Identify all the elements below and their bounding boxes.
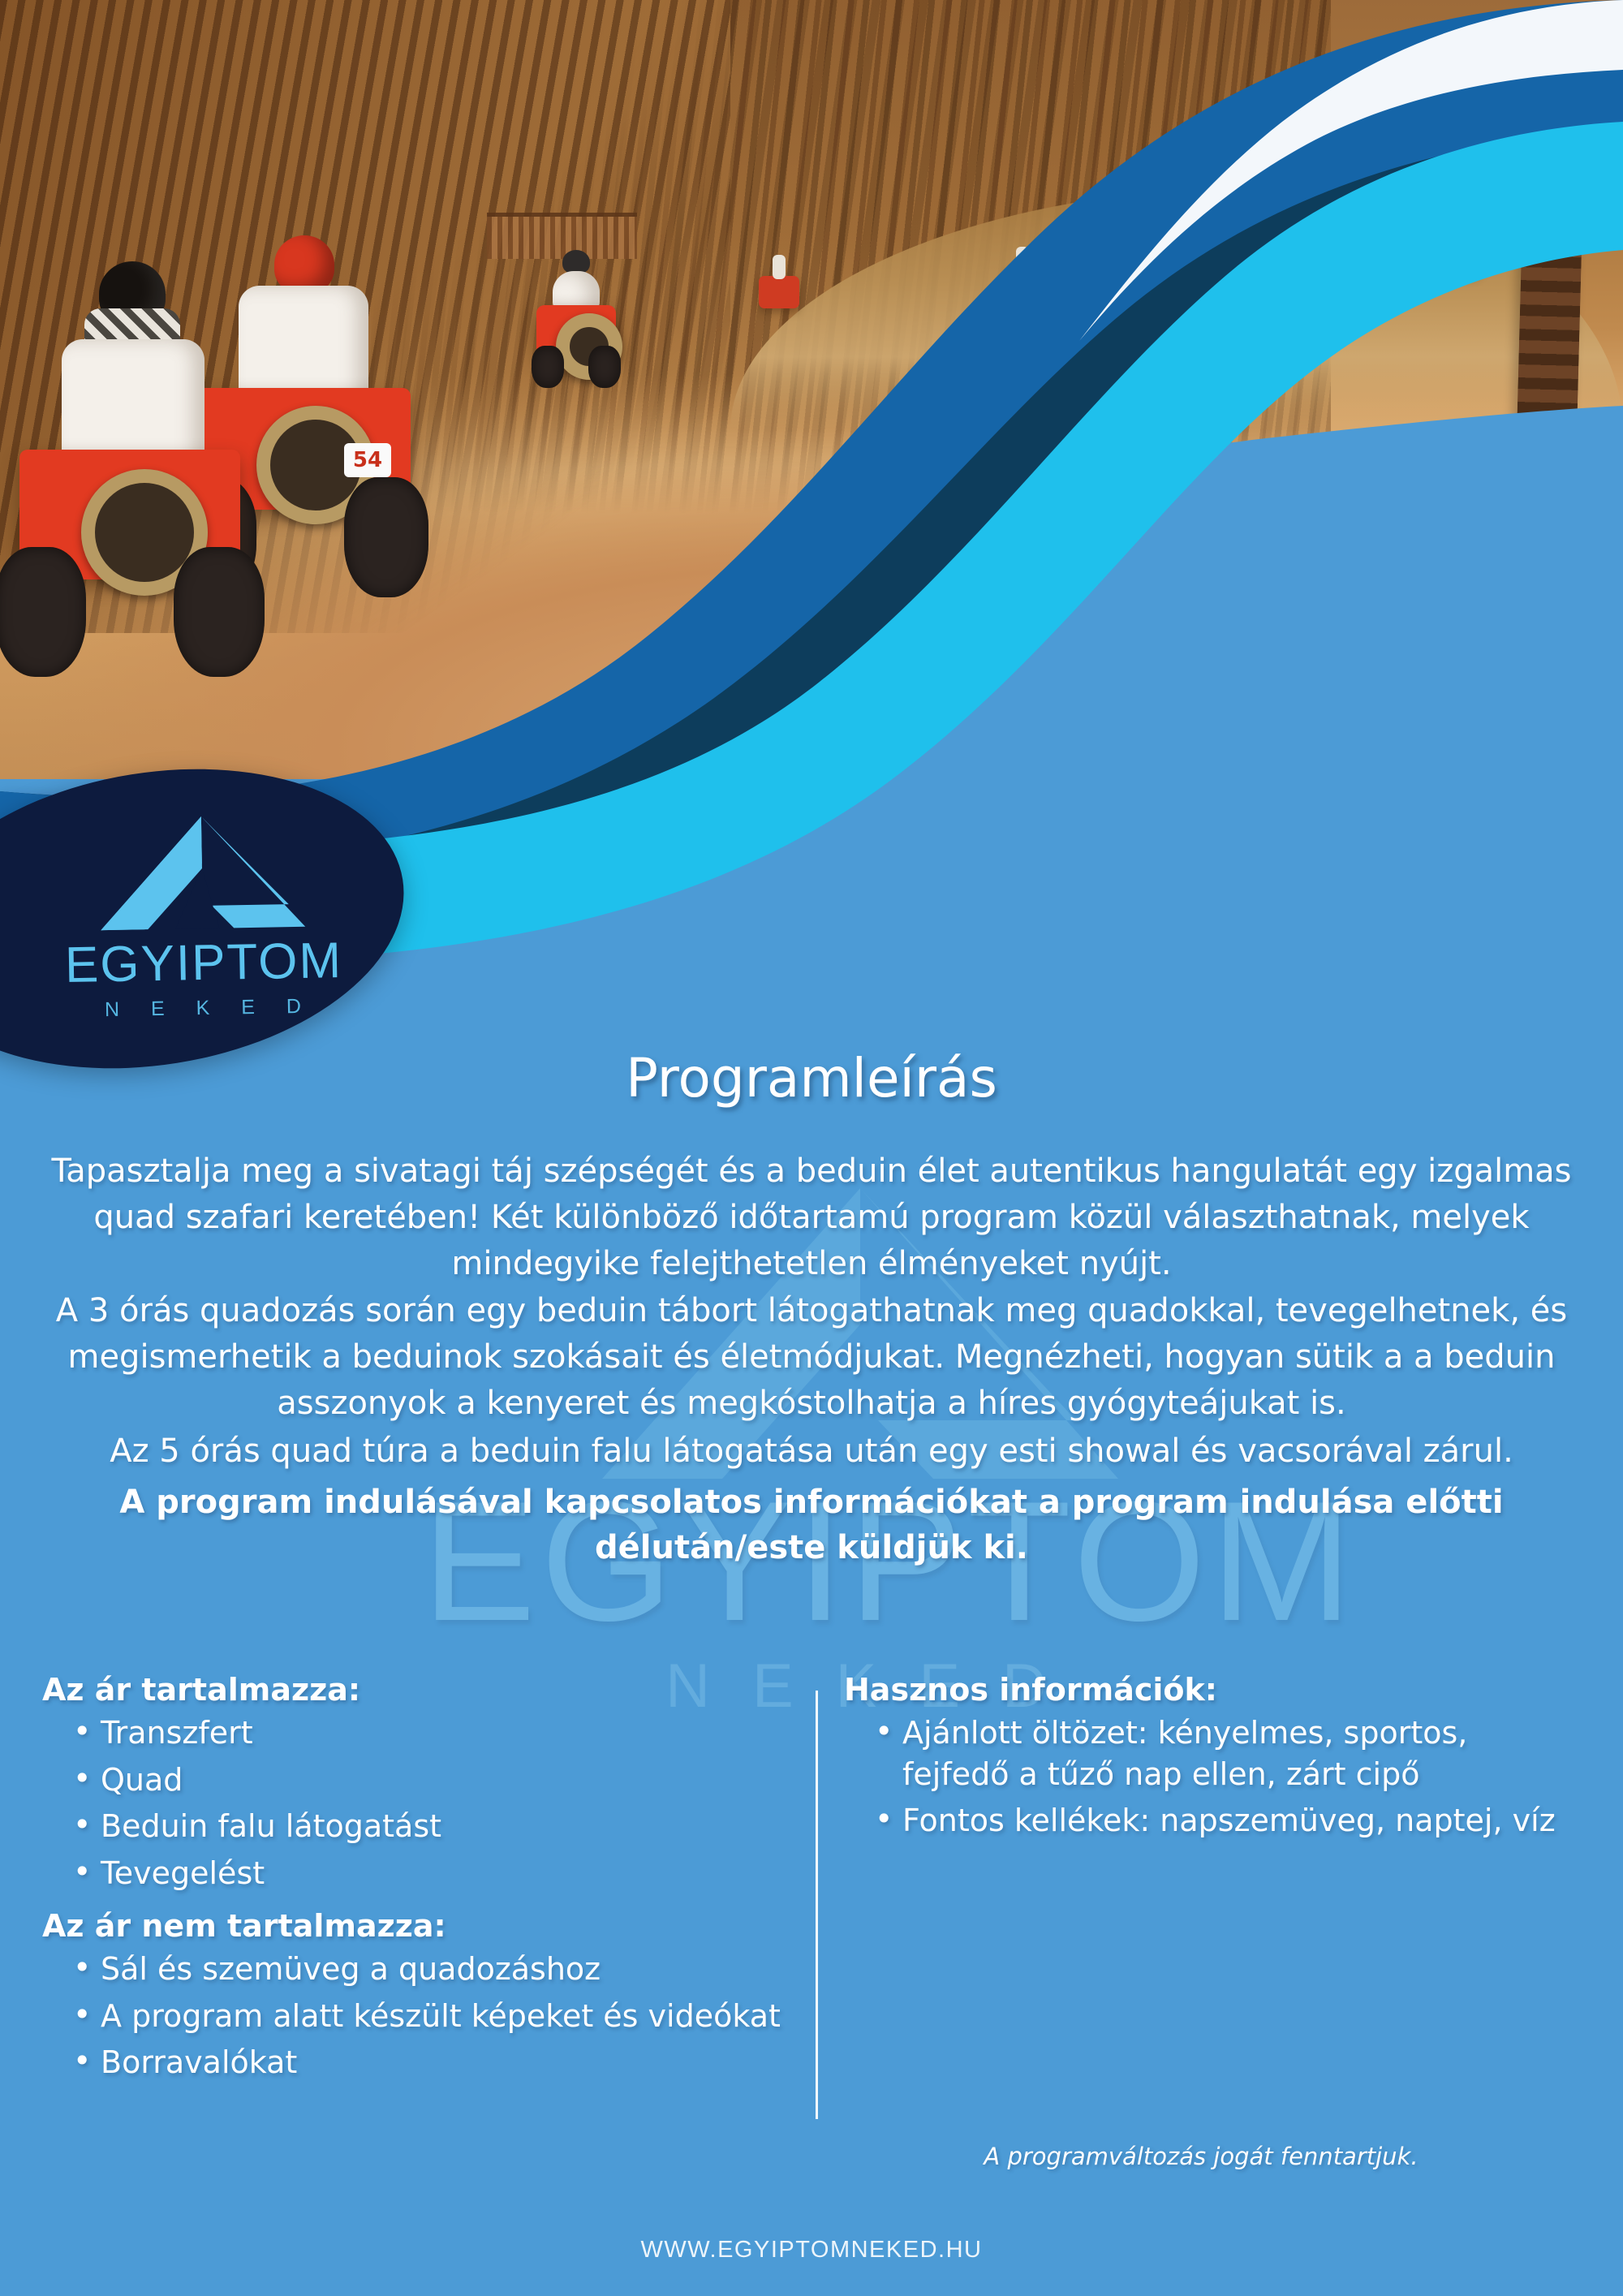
useful-info-heading: Hasznos információk: — [844, 1672, 1558, 1708]
list-item: Ajánlott öltözet: kényelmes, sportos, fe… — [902, 1712, 1558, 1794]
included-heading: Az ár tartalmazza: — [42, 1672, 797, 1708]
disclaimer-text: A programváltozás jogát fenntartjuk. — [844, 2143, 1558, 2170]
intro-paragraph-2: A 3 órás quadozás során egy beduin tábor… — [45, 1288, 1578, 1426]
page-title: Programleírás — [0, 1047, 1623, 1109]
list-item: Fontos kellékek: napszemüveg, naptej, ví… — [902, 1800, 1558, 1842]
column-left: Az ár tartalmazza: Transzfert Quad Bedui… — [42, 1672, 797, 2098]
list-item: Transzfert — [101, 1712, 797, 1754]
included-list: Transzfert Quad Beduin falu látogatást T… — [42, 1712, 797, 1893]
intro-paragraph-3: Az 5 órás quad túra a beduin falu látoga… — [45, 1428, 1578, 1475]
list-item: Sál és szemüveg a quadozáshoz — [101, 1949, 797, 1990]
list-item: Quad — [101, 1760, 797, 1801]
list-item: A program alatt készült képeket és videó… — [101, 1996, 797, 2037]
list-item: Tevegelést — [101, 1853, 797, 1894]
content-area: Programleírás Tapasztalja meg a sivatagi… — [0, 0, 1623, 2296]
website-url[interactable]: WWW.EGYIPTOMNEKED.HU — [0, 2237, 1623, 2264]
column-right: Hasznos információk: Ajánlott öltözet: k… — [844, 1672, 1558, 1856]
intro-text-block: Tapasztalja meg a sivatagi táj szépségét… — [45, 1148, 1578, 1573]
list-item: Beduin falu látogatást — [101, 1806, 797, 1847]
not-included-list: Sál és szemüveg a quadozáshoz A program … — [42, 1949, 797, 2083]
list-item: Borravalókat — [101, 2042, 797, 2083]
intro-paragraph-bold: A program indulásával kapcsolatos inform… — [45, 1480, 1578, 1572]
info-columns: Az ár tartalmazza: Transzfert Quad Bedui… — [0, 1672, 1623, 2175]
useful-info-list: Ajánlott öltözet: kényelmes, sportos, fe… — [844, 1712, 1558, 1842]
intro-paragraph-1: Tapasztalja meg a sivatagi táj szépségét… — [45, 1148, 1578, 1286]
not-included-heading: Az ár nem tartalmazza: — [42, 1908, 797, 1944]
flyer-page: 54 Quad Safari — [0, 0, 1623, 2296]
